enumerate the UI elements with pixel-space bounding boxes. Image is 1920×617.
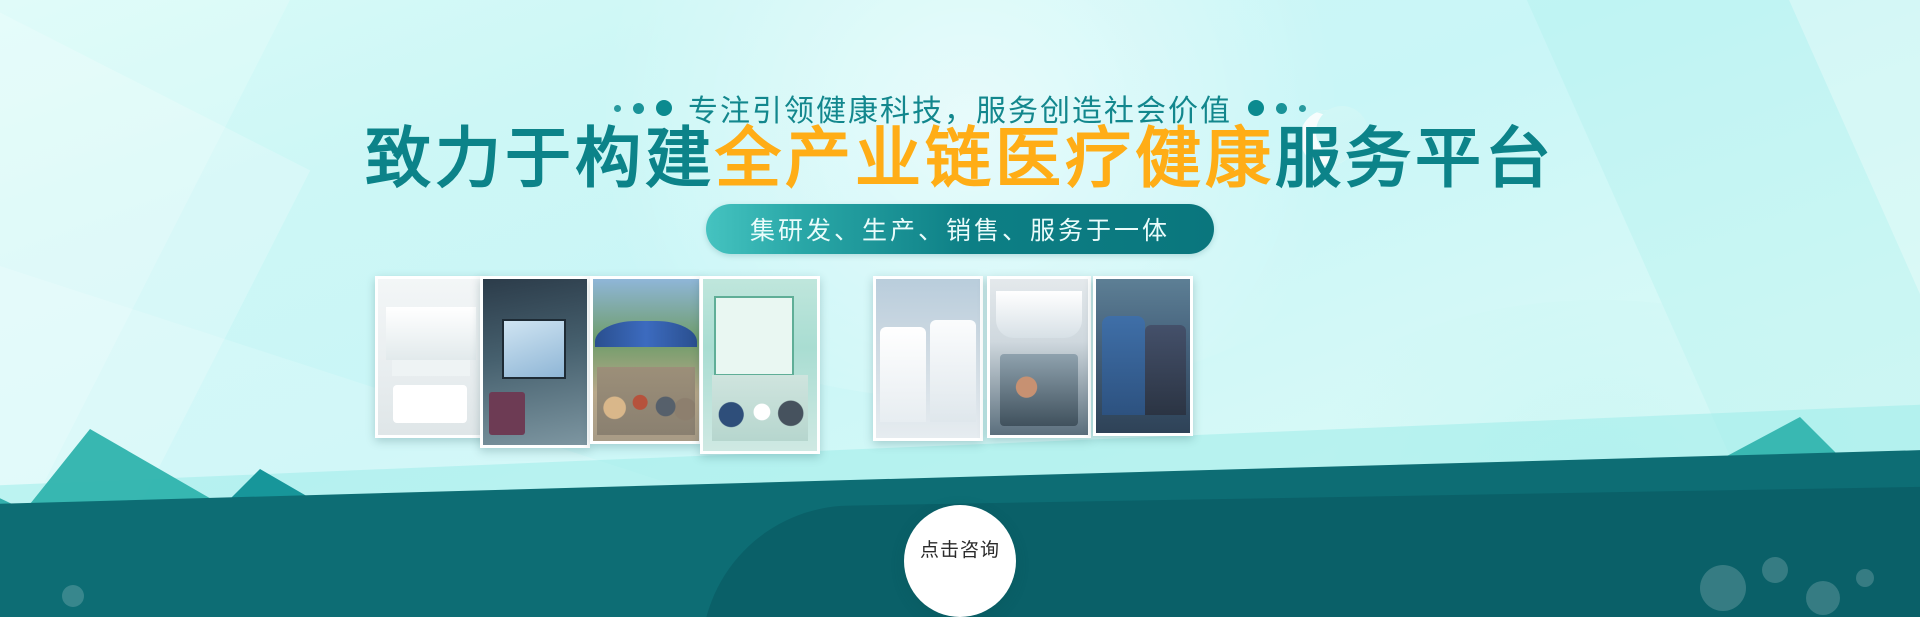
dot-medium-icon bbox=[633, 103, 644, 114]
scenery-hill bbox=[0, 429, 350, 579]
decorative-dots-right bbox=[1248, 100, 1306, 116]
bubble-icon bbox=[1856, 569, 1874, 587]
dot-large-icon bbox=[1248, 100, 1264, 116]
dot-large-icon bbox=[656, 100, 672, 116]
photo-strip bbox=[375, 276, 1195, 456]
photo-laboratory-equipment[interactable] bbox=[375, 276, 487, 438]
photo-health-kiosk-booth[interactable] bbox=[700, 276, 820, 454]
consult-button[interactable]: 点击咨询 bbox=[904, 505, 1016, 617]
scenery-hill bbox=[150, 469, 450, 579]
background-glow bbox=[1250, 300, 1920, 617]
dot-medium-icon bbox=[1276, 103, 1287, 114]
consult-button-label: 点击咨询 bbox=[920, 535, 1000, 562]
hero-banner: 专注引领健康科技，服务创造社会价值 致力于构建全产业链医疗健康服务平台 集研发、… bbox=[0, 0, 1920, 617]
photo-blue-uniform-workers[interactable] bbox=[1093, 276, 1193, 436]
dot-small-icon bbox=[614, 105, 621, 112]
headline-part-three: 服务平台 bbox=[1275, 121, 1555, 195]
status-badge: 集研发、生产、销售、服务于一体 bbox=[706, 204, 1214, 254]
headline-part-two: 全产业链医疗健康 bbox=[715, 121, 1275, 195]
photo-technician-operating-device[interactable] bbox=[987, 276, 1091, 438]
dot-small-icon bbox=[1299, 105, 1306, 112]
bubble-icon bbox=[1762, 557, 1788, 583]
scenery-ground-accent bbox=[699, 486, 1920, 617]
scenery-hill bbox=[1460, 477, 1770, 577]
bubble-icon bbox=[1806, 581, 1840, 615]
scenery-hill bbox=[1500, 417, 1920, 577]
photo-medical-staff-white-coats[interactable] bbox=[873, 276, 983, 441]
bubble-icon bbox=[62, 585, 84, 607]
scenery-hill bbox=[0, 484, 170, 579]
bubble-icon bbox=[1700, 565, 1746, 611]
badge-row: 集研发、生产、销售、服务于一体 bbox=[0, 204, 1920, 254]
photo-outdoor-health-camp-tent[interactable] bbox=[590, 276, 702, 444]
photo-medical-workstation-screen[interactable] bbox=[480, 276, 590, 448]
page-title: 致力于构建全产业链医疗健康服务平台 bbox=[0, 125, 1920, 191]
headline-part-one: 致力于构建 bbox=[365, 121, 715, 195]
decorative-dots-left bbox=[614, 100, 672, 116]
